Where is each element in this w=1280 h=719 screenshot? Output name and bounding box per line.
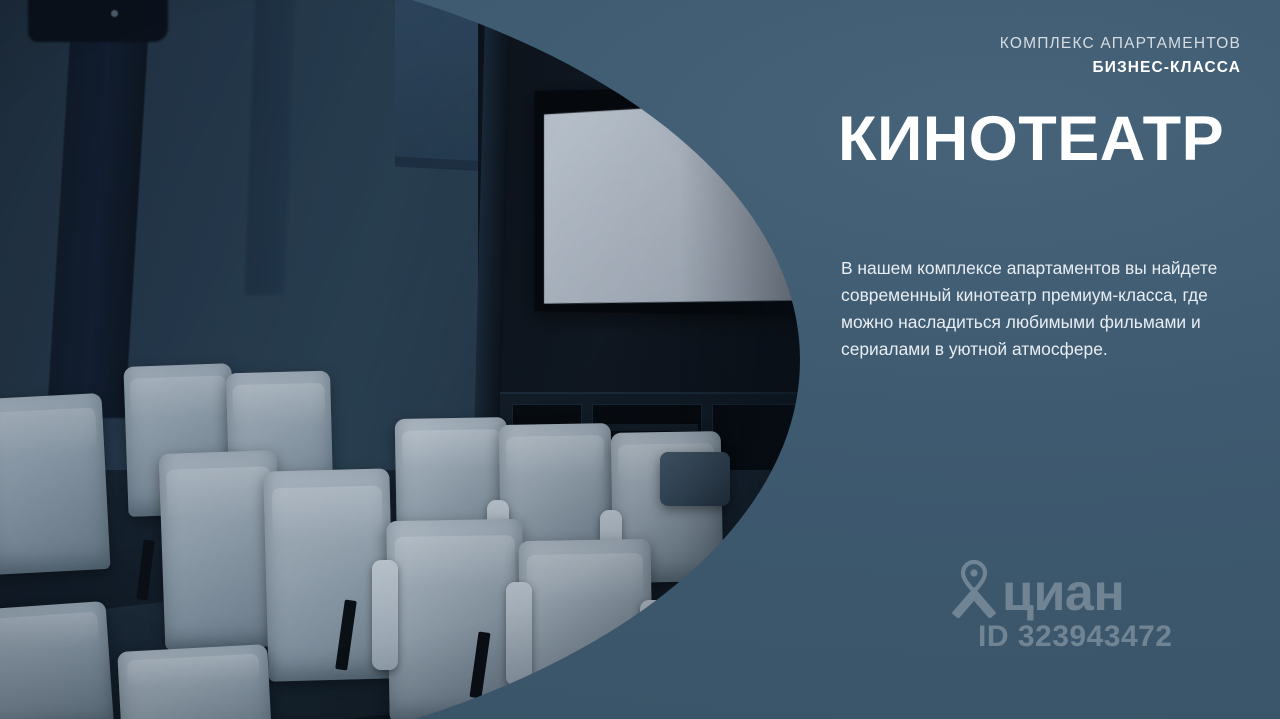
eyebrow-line-1: КОМПЛЕКС АПАРТАМЕНТОВ [1000, 35, 1241, 52]
cian-watermark-row: циан [952, 560, 1182, 618]
listing-id: ID 323943472 [978, 620, 1182, 654]
eyebrow-text: КОМПЛЕКС АПАРТАМЕНТОВ БИЗНЕС-КЛАССА [721, 32, 1241, 80]
description-text: В нашем комплексе апартаментов вы найдет… [841, 255, 1249, 364]
map-pin-icon [952, 560, 996, 618]
page-title: КИНОТЕАТР [838, 108, 1224, 171]
cian-watermark: циан ID 323943472 [952, 560, 1182, 654]
eyebrow-line-2: БИЗНЕС-КЛАССА [721, 56, 1241, 80]
promo-slide: КОМПЛЕКС АПАРТАМЕНТОВ БИЗНЕС-КЛАССА КИНО… [0, 0, 1280, 719]
cian-brand-name: циан [1002, 570, 1124, 618]
